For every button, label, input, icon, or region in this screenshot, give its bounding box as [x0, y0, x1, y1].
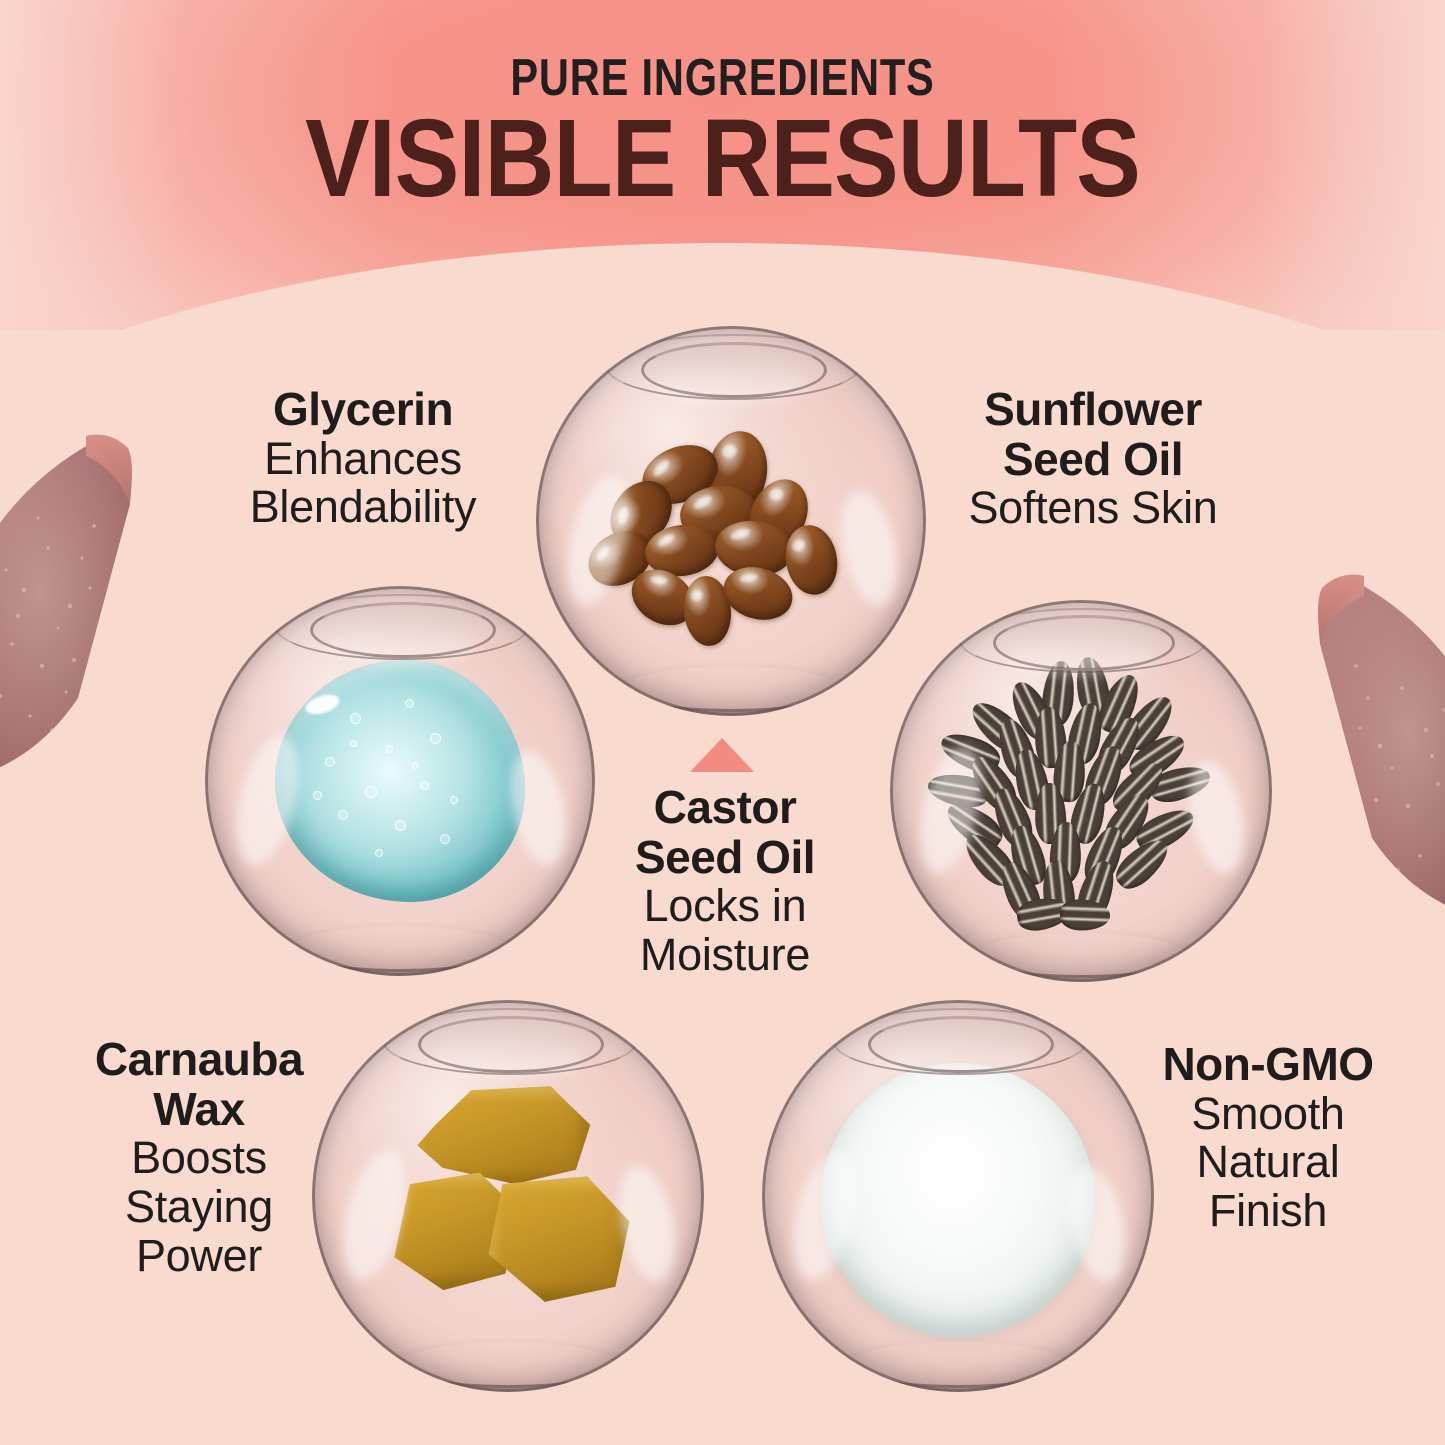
ingredient-sphere-non-gmo [762, 1000, 1154, 1392]
page-title: VISIBLE RESULTS [87, 104, 1359, 214]
label-carnauba-name-line-2: Wax [44, 1085, 354, 1135]
label-carnauba-desc-line-1: Boosts [44, 1134, 354, 1183]
label-sunflower-name-line-1: Sunflower [930, 385, 1256, 435]
label-carnauba-wax: Carnauba Wax Boosts Staying Power [44, 1035, 354, 1280]
label-glycerin: Glycerin Enhances Blendability [198, 385, 528, 532]
label-sunflower-name-line-2: Seed Oil [930, 435, 1256, 485]
label-sunflower-seed-oil: Sunflower Seed Oil Softens Skin [930, 385, 1256, 533]
infographic-canvas: PURE INGREDIENTS VISIBLE RESULTS [0, 0, 1445, 1445]
label-castor-desc-line-2: Moisture [592, 931, 858, 980]
label-non-gmo-desc-line-1: Smooth [1118, 1090, 1418, 1139]
label-castor-desc-line-1: Locks in [592, 882, 858, 931]
label-glycerin-desc-line-1: Enhances [198, 435, 528, 484]
label-glycerin-name: Glycerin [198, 385, 528, 435]
glass-rim [890, 600, 1272, 982]
label-non-gmo-name: Non-GMO [1118, 1040, 1418, 1090]
lipstick-swatch-left [0, 430, 212, 900]
label-castor-name-line-1: Castor [592, 783, 858, 833]
glass-rim [205, 586, 595, 976]
label-non-gmo-desc-line-3: Finish [1118, 1187, 1418, 1236]
ingredient-sphere-carnauba-wax [312, 1000, 704, 1392]
label-non-gmo: Non-GMO Smooth Natural Finish [1118, 1040, 1418, 1235]
label-castor-seed-oil: Castor Seed Oil Locks in Moisture [592, 783, 858, 980]
castor-pointer-triangle [690, 738, 754, 772]
label-castor-name-line-2: Seed Oil [592, 833, 858, 883]
glass-rim [312, 1000, 704, 1392]
label-glycerin-desc-line-2: Blendability [198, 483, 528, 532]
ingredient-sphere-glycerin [205, 586, 595, 976]
label-sunflower-desc-line-1: Softens Skin [930, 484, 1256, 533]
ingredient-sphere-sunflower-seed-oil [890, 600, 1272, 982]
label-carnauba-name-line-1: Carnauba [44, 1035, 354, 1085]
label-non-gmo-desc-line-2: Natural [1118, 1138, 1418, 1187]
label-carnauba-desc-line-2: Staying [44, 1183, 354, 1232]
glass-rim [762, 1000, 1154, 1392]
label-carnauba-desc-line-3: Power [44, 1232, 354, 1281]
